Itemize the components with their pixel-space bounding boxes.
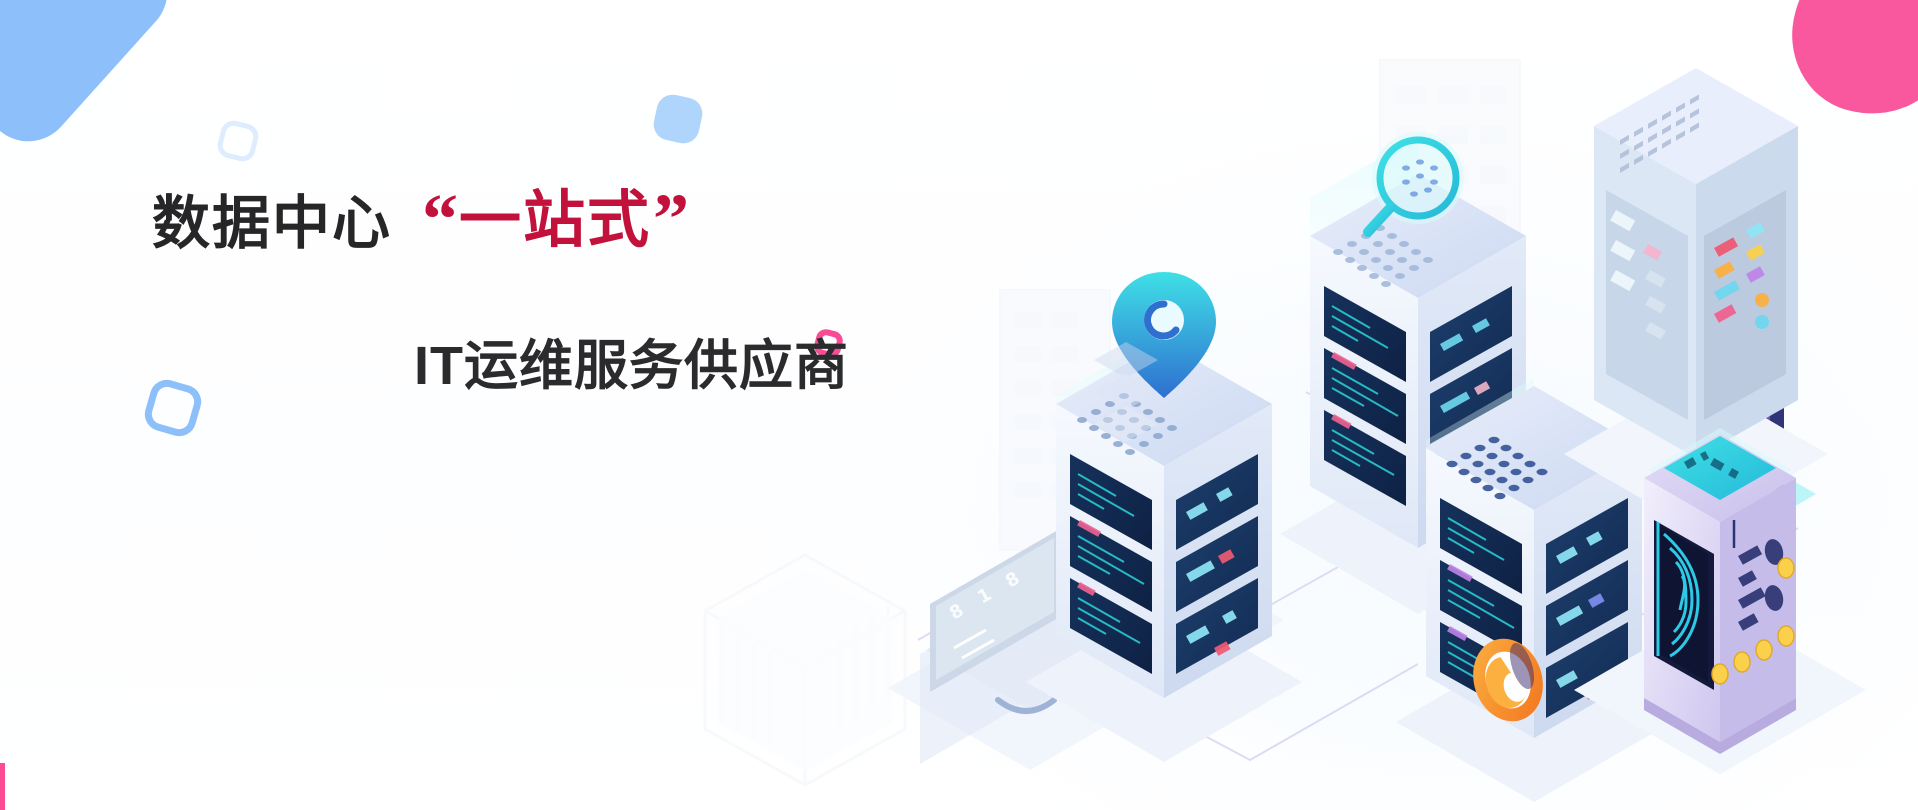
quote-open-mark: “ [422,190,458,249]
pink-corner-blob [1773,0,1918,133]
watermark-cube-center [690,545,920,795]
svg-text:8: 8 [946,600,967,624]
svg-text:1: 1 [974,584,995,608]
watermark-screen-topright [1610,190,1760,340]
blue-corner-shape [0,0,185,159]
blue-square-solid [651,92,706,147]
headline-line-2: IT运维服务供应商 [414,339,912,393]
security-cabinet-fingerprint [1574,428,1866,774]
tablet-wifi [1684,374,1816,532]
headline-highlight-group: “ 一站式 ” [422,190,689,252]
orange-swirl-disc [1463,630,1554,731]
headline-primary-text: 数据中心 [152,195,392,253]
watermark-building-left [960,250,1150,580]
headline-highlight-text: 一站式 [459,190,651,252]
quote-close-mark: ” [653,190,689,249]
pink-edge-bar [0,763,5,810]
pale-blue-square-outline [215,118,261,164]
marketing-banner: 数据中心 “ 一站式 ” IT运维服务供应商 [0,0,1918,810]
headline-block: 数据中心 “ 一站式 ” IT运维服务供应商 [152,190,912,393]
headline-line-1: 数据中心 “ 一站式 ” [152,190,912,253]
watermark-building-right [1320,30,1570,450]
